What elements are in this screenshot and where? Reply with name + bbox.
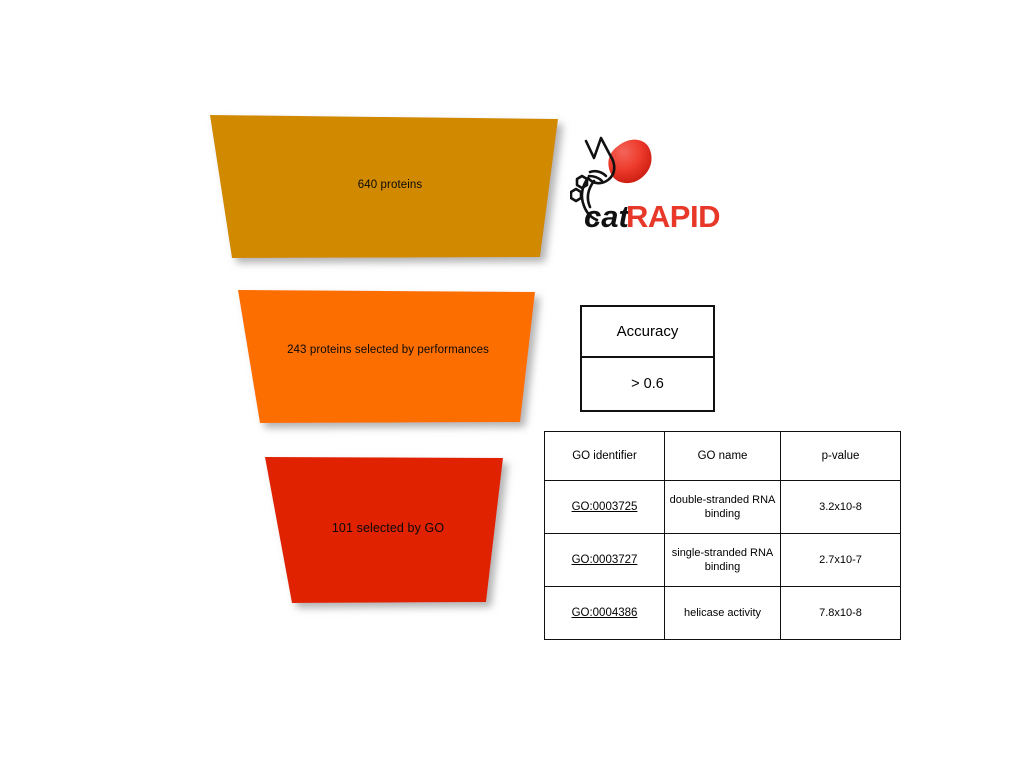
go-identifier-cell[interactable]: GO:0003727 [545, 534, 665, 587]
go-enrichment-table: GO identifier GO name p-value GO:0003725… [544, 431, 901, 640]
logo-text-light: cat [584, 199, 630, 234]
funnel-shape-2 [238, 290, 535, 423]
funnel-stage-3[interactable]: 101 selected by GO [255, 448, 520, 623]
catrapid-logo[interactable]: cat RAPID [570, 132, 730, 237]
col-header-go-identifier: GO identifier [545, 432, 665, 481]
table-header-row: GO identifier GO name p-value [545, 432, 901, 481]
col-header-go-name: GO name [665, 432, 781, 481]
go-name-cell: single-stranded RNA binding [665, 534, 781, 587]
accuracy-value: > 0.6 [582, 358, 713, 409]
p-value-cell: 2.7x10-7 [781, 534, 901, 587]
p-value-cell: 7.8x10-8 [781, 587, 901, 640]
col-header-p-value: p-value [781, 432, 901, 481]
funnel-shape-1 [210, 115, 558, 258]
go-name-cell: helicase activity [665, 587, 781, 640]
go-identifier-cell[interactable]: GO:0004386 [545, 587, 665, 640]
accuracy-header: Accuracy [582, 307, 713, 358]
logo-text-bold: RAPID [626, 199, 720, 234]
p-value-cell: 3.2x10-8 [781, 481, 901, 534]
table-row: GO:0003727 single-stranded RNA binding 2… [545, 534, 901, 587]
logo-red-blob [608, 140, 651, 184]
table-row: GO:0004386 helicase activity 7.8x10-8 [545, 587, 901, 640]
funnel-shape-3 [265, 457, 503, 603]
go-name-cell: double-stranded RNA binding [665, 481, 781, 534]
accuracy-box: Accuracy > 0.6 [580, 305, 715, 412]
go-identifier-link[interactable]: GO:0003725 [572, 501, 638, 513]
go-identifier-cell[interactable]: GO:0003725 [545, 481, 665, 534]
funnel-stage-2[interactable]: 243 proteins selected by performances [228, 282, 548, 437]
slide-canvas: 640 proteins 243 proteins selected by pe… [0, 0, 1024, 768]
table-row: GO:0003725 double-stranded RNA binding 3… [545, 481, 901, 534]
funnel-stage-1[interactable]: 640 proteins [200, 105, 575, 275]
go-identifier-link[interactable]: GO:0003727 [572, 554, 638, 566]
go-identifier-link[interactable]: GO:0004386 [572, 607, 638, 619]
